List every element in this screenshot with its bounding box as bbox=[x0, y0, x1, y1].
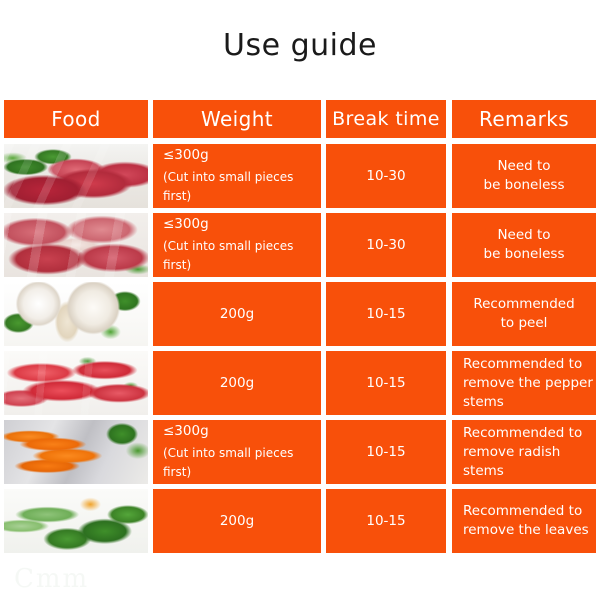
weight-note: (Cut into small pieces first) bbox=[163, 168, 321, 206]
table-row: 200g 10-15 Recommended to remove the pep… bbox=[4, 351, 596, 415]
weight-cell: 200g bbox=[153, 351, 321, 415]
table-row: ≤300g (Cut into small pieces first) 10-1… bbox=[4, 420, 596, 484]
food-photo-cell bbox=[4, 420, 148, 484]
chili-pepper-image bbox=[4, 351, 148, 415]
column-header-weight: Weight bbox=[153, 100, 321, 138]
table-row: ≤300g (Cut into small pieces first) 10-3… bbox=[4, 213, 596, 277]
remarks-cell: Recommended to peel bbox=[452, 282, 596, 346]
food-photo-cell bbox=[4, 282, 148, 346]
weight-note: (Cut into small pieces first) bbox=[163, 237, 321, 275]
break-time-cell: 10-30 bbox=[326, 213, 446, 277]
garlic-image bbox=[4, 282, 148, 346]
use-guide-page: Use guide Food Weight Break time Remarks… bbox=[0, 0, 600, 600]
food-photo-cell bbox=[4, 144, 148, 208]
use-guide-table: Food Weight Break time Remarks ≤300g (Cu… bbox=[4, 100, 596, 558]
remarks-cell: Recommended to remove the leaves bbox=[452, 489, 596, 553]
food-photo-cell bbox=[4, 489, 148, 553]
watermark: Cmm bbox=[14, 564, 89, 594]
break-time-cell: 10-15 bbox=[326, 489, 446, 553]
food-photo-cell bbox=[4, 213, 148, 277]
weight-value: 200g bbox=[220, 512, 254, 531]
remarks-line: stems bbox=[463, 462, 504, 481]
remarks-line: Need to bbox=[497, 157, 550, 176]
remarks-line: to peel bbox=[501, 314, 548, 333]
column-header-break-time: Break time bbox=[326, 100, 446, 138]
remarks-line: Recommended to bbox=[463, 502, 582, 521]
remarks-line: Need to bbox=[497, 226, 550, 245]
weight-cell: 200g bbox=[153, 282, 321, 346]
weight-value: ≤300g bbox=[163, 146, 209, 165]
break-time-cell: 10-15 bbox=[326, 282, 446, 346]
table-row: ≤300g (Cut into small pieces first) 10-3… bbox=[4, 144, 596, 208]
column-header-food: Food bbox=[4, 100, 148, 138]
remarks-cell: Need to be boneless bbox=[452, 213, 596, 277]
weight-note: (Cut into small pieces first) bbox=[163, 444, 321, 482]
break-time-cell: 10-30 bbox=[326, 144, 446, 208]
pork-image bbox=[4, 213, 148, 277]
remarks-line: remove the pepper bbox=[463, 374, 593, 393]
remarks-line: be boneless bbox=[484, 245, 565, 264]
remarks-cell: Recommended to remove the pepper stems bbox=[452, 351, 596, 415]
weight-cell: ≤300g (Cut into small pieces first) bbox=[153, 144, 321, 208]
weight-value: 200g bbox=[220, 305, 254, 324]
column-header-remarks: Remarks bbox=[452, 100, 596, 138]
cilantro-greens-image bbox=[4, 489, 148, 553]
carrot-image bbox=[4, 420, 148, 484]
remarks-line: Recommended to bbox=[463, 424, 582, 443]
page-title: Use guide bbox=[0, 28, 600, 63]
weight-value: ≤300g bbox=[163, 215, 209, 234]
remarks-line: remove the leaves bbox=[463, 521, 589, 540]
remarks-cell: Need to be boneless bbox=[452, 144, 596, 208]
beef-image bbox=[4, 144, 148, 208]
table-row: 200g 10-15 Recommended to remove the lea… bbox=[4, 489, 596, 553]
remarks-cell: Recommended to remove radish stems bbox=[452, 420, 596, 484]
weight-value: 200g bbox=[220, 374, 254, 393]
weight-cell: ≤300g (Cut into small pieces first) bbox=[153, 420, 321, 484]
remarks-line: Recommended to bbox=[463, 355, 582, 374]
table-header-row: Food Weight Break time Remarks bbox=[4, 100, 596, 138]
remarks-line: stems bbox=[463, 393, 504, 412]
break-time-cell: 10-15 bbox=[326, 351, 446, 415]
weight-cell: ≤300g (Cut into small pieces first) bbox=[153, 213, 321, 277]
remarks-line: Recommended bbox=[473, 295, 574, 314]
weight-cell: 200g bbox=[153, 489, 321, 553]
table-row: 200g 10-15 Recommended to peel bbox=[4, 282, 596, 346]
weight-value: ≤300g bbox=[163, 422, 209, 441]
remarks-line: remove radish bbox=[463, 443, 560, 462]
break-time-cell: 10-15 bbox=[326, 420, 446, 484]
food-photo-cell bbox=[4, 351, 148, 415]
remarks-line: be boneless bbox=[484, 176, 565, 195]
